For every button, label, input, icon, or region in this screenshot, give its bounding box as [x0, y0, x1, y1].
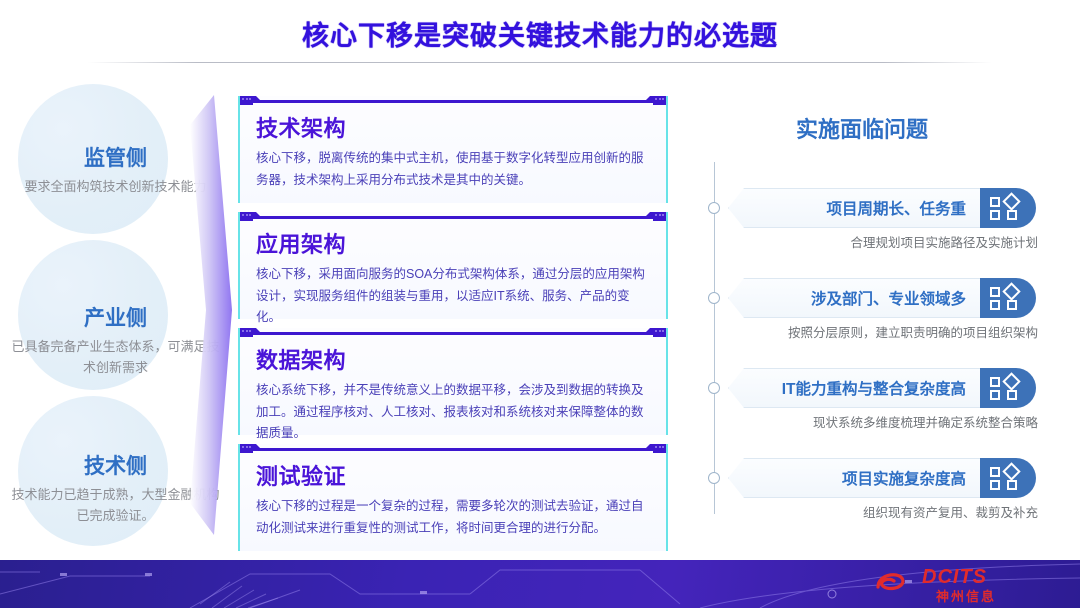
card-title: 技术架构	[256, 111, 650, 143]
card-title: 数据架构	[256, 343, 650, 375]
card-corner-left	[240, 212, 253, 221]
brand-logo: DCITS 神州信息	[876, 567, 1066, 601]
card-title: 应用架构	[256, 227, 650, 259]
timeline-label: 项目周期长、任务重	[742, 188, 972, 228]
timeline-subtext: 组织现有资产复用、裁剪及补充	[728, 502, 1038, 521]
panel-heading: 实施面临问题	[690, 112, 1034, 144]
architecture-card-list: 技术架构 核心下移，脱离传统的集中式主机，使用基于数字化转型应用创新的服务器，技…	[238, 96, 668, 560]
title-divider	[88, 62, 992, 63]
card-top-bar	[240, 444, 666, 451]
blocks-diamond-icon	[980, 188, 1036, 228]
card-body: 核心系统下移，并不是传统意义上的数据平移，会涉及到数据的转换及加工。通过程序核对…	[256, 380, 650, 445]
card-top-bar	[240, 328, 666, 335]
card-body: 核心下移，采用面向服务的SOA分布式架构体系，通过分层的应用架构设计，实现服务组…	[256, 264, 650, 329]
card-data-architecture[interactable]: 数据架构 核心系统下移，并不是传统意义上的数据平移，会涉及到数据的转换及加工。通…	[238, 328, 668, 435]
timeline-subtext: 现状系统多维度梳理并确定系统整合策略	[728, 412, 1038, 431]
card-corner-left	[240, 328, 253, 337]
dcits-swirl-icon	[876, 567, 906, 595]
footer-band: DCITS 神州信息	[0, 560, 1080, 608]
timeline-dot-icon	[708, 292, 720, 304]
implementation-issues-panel: 实施面临问题 项目周期长、任务重 合理规划项目实施路径及实施计划 涉及部门、专业…	[690, 100, 1080, 550]
card-body: 核心下移，脱离传统的集中式主机，使用基于数字化转型应用创新的服务器，技术架构上采…	[256, 148, 650, 191]
card-top-bar	[240, 96, 666, 103]
timeline-dot-icon	[708, 472, 720, 484]
card-corner-left	[240, 444, 253, 453]
timeline-dot-icon	[708, 382, 720, 394]
direction-arrow-icon	[172, 95, 242, 535]
blocks-diamond-icon	[980, 458, 1036, 498]
timeline-dot-icon	[708, 202, 720, 214]
timeline-label: 涉及部门、专业领域多	[742, 278, 972, 318]
card-corner-right	[653, 212, 666, 221]
timeline-subtext: 合理规划项目实施路径及实施计划	[728, 232, 1038, 251]
card-body: 核心下移的过程是一个复杂的过程，需要多轮次的测试去验证，通过自动化测试来进行重复…	[256, 496, 650, 539]
card-corner-right	[653, 328, 666, 337]
card-app-architecture[interactable]: 应用架构 核心下移，采用面向服务的SOA分布式架构体系，通过分层的应用架构设计，…	[238, 212, 668, 319]
page-title: 核心下移是突破关键技术能力的必选题	[0, 14, 1080, 53]
card-test-verification[interactable]: 测试验证 核心下移的过程是一个复杂的过程，需要多轮次的测试去验证，通过自动化测试…	[238, 444, 668, 551]
timeline-label: IT能力重构与整合复杂度高	[742, 368, 972, 408]
card-corner-right	[653, 96, 666, 105]
blocks-diamond-icon	[980, 368, 1036, 408]
card-tech-architecture[interactable]: 技术架构 核心下移，脱离传统的集中式主机，使用基于数字化转型应用创新的服务器，技…	[238, 96, 668, 203]
card-corner-right	[653, 444, 666, 453]
timeline-subtext: 按照分层原则，建立职责明确的项目组织架构	[728, 322, 1038, 341]
blocks-diamond-icon	[980, 278, 1036, 318]
timeline-axis	[714, 162, 715, 514]
logo-subtitle: 神州信息	[936, 586, 996, 605]
card-title: 测试验证	[256, 459, 650, 491]
card-corner-left	[240, 96, 253, 105]
card-top-bar	[240, 212, 666, 219]
timeline-label: 项目实施复杂度高	[742, 458, 972, 498]
